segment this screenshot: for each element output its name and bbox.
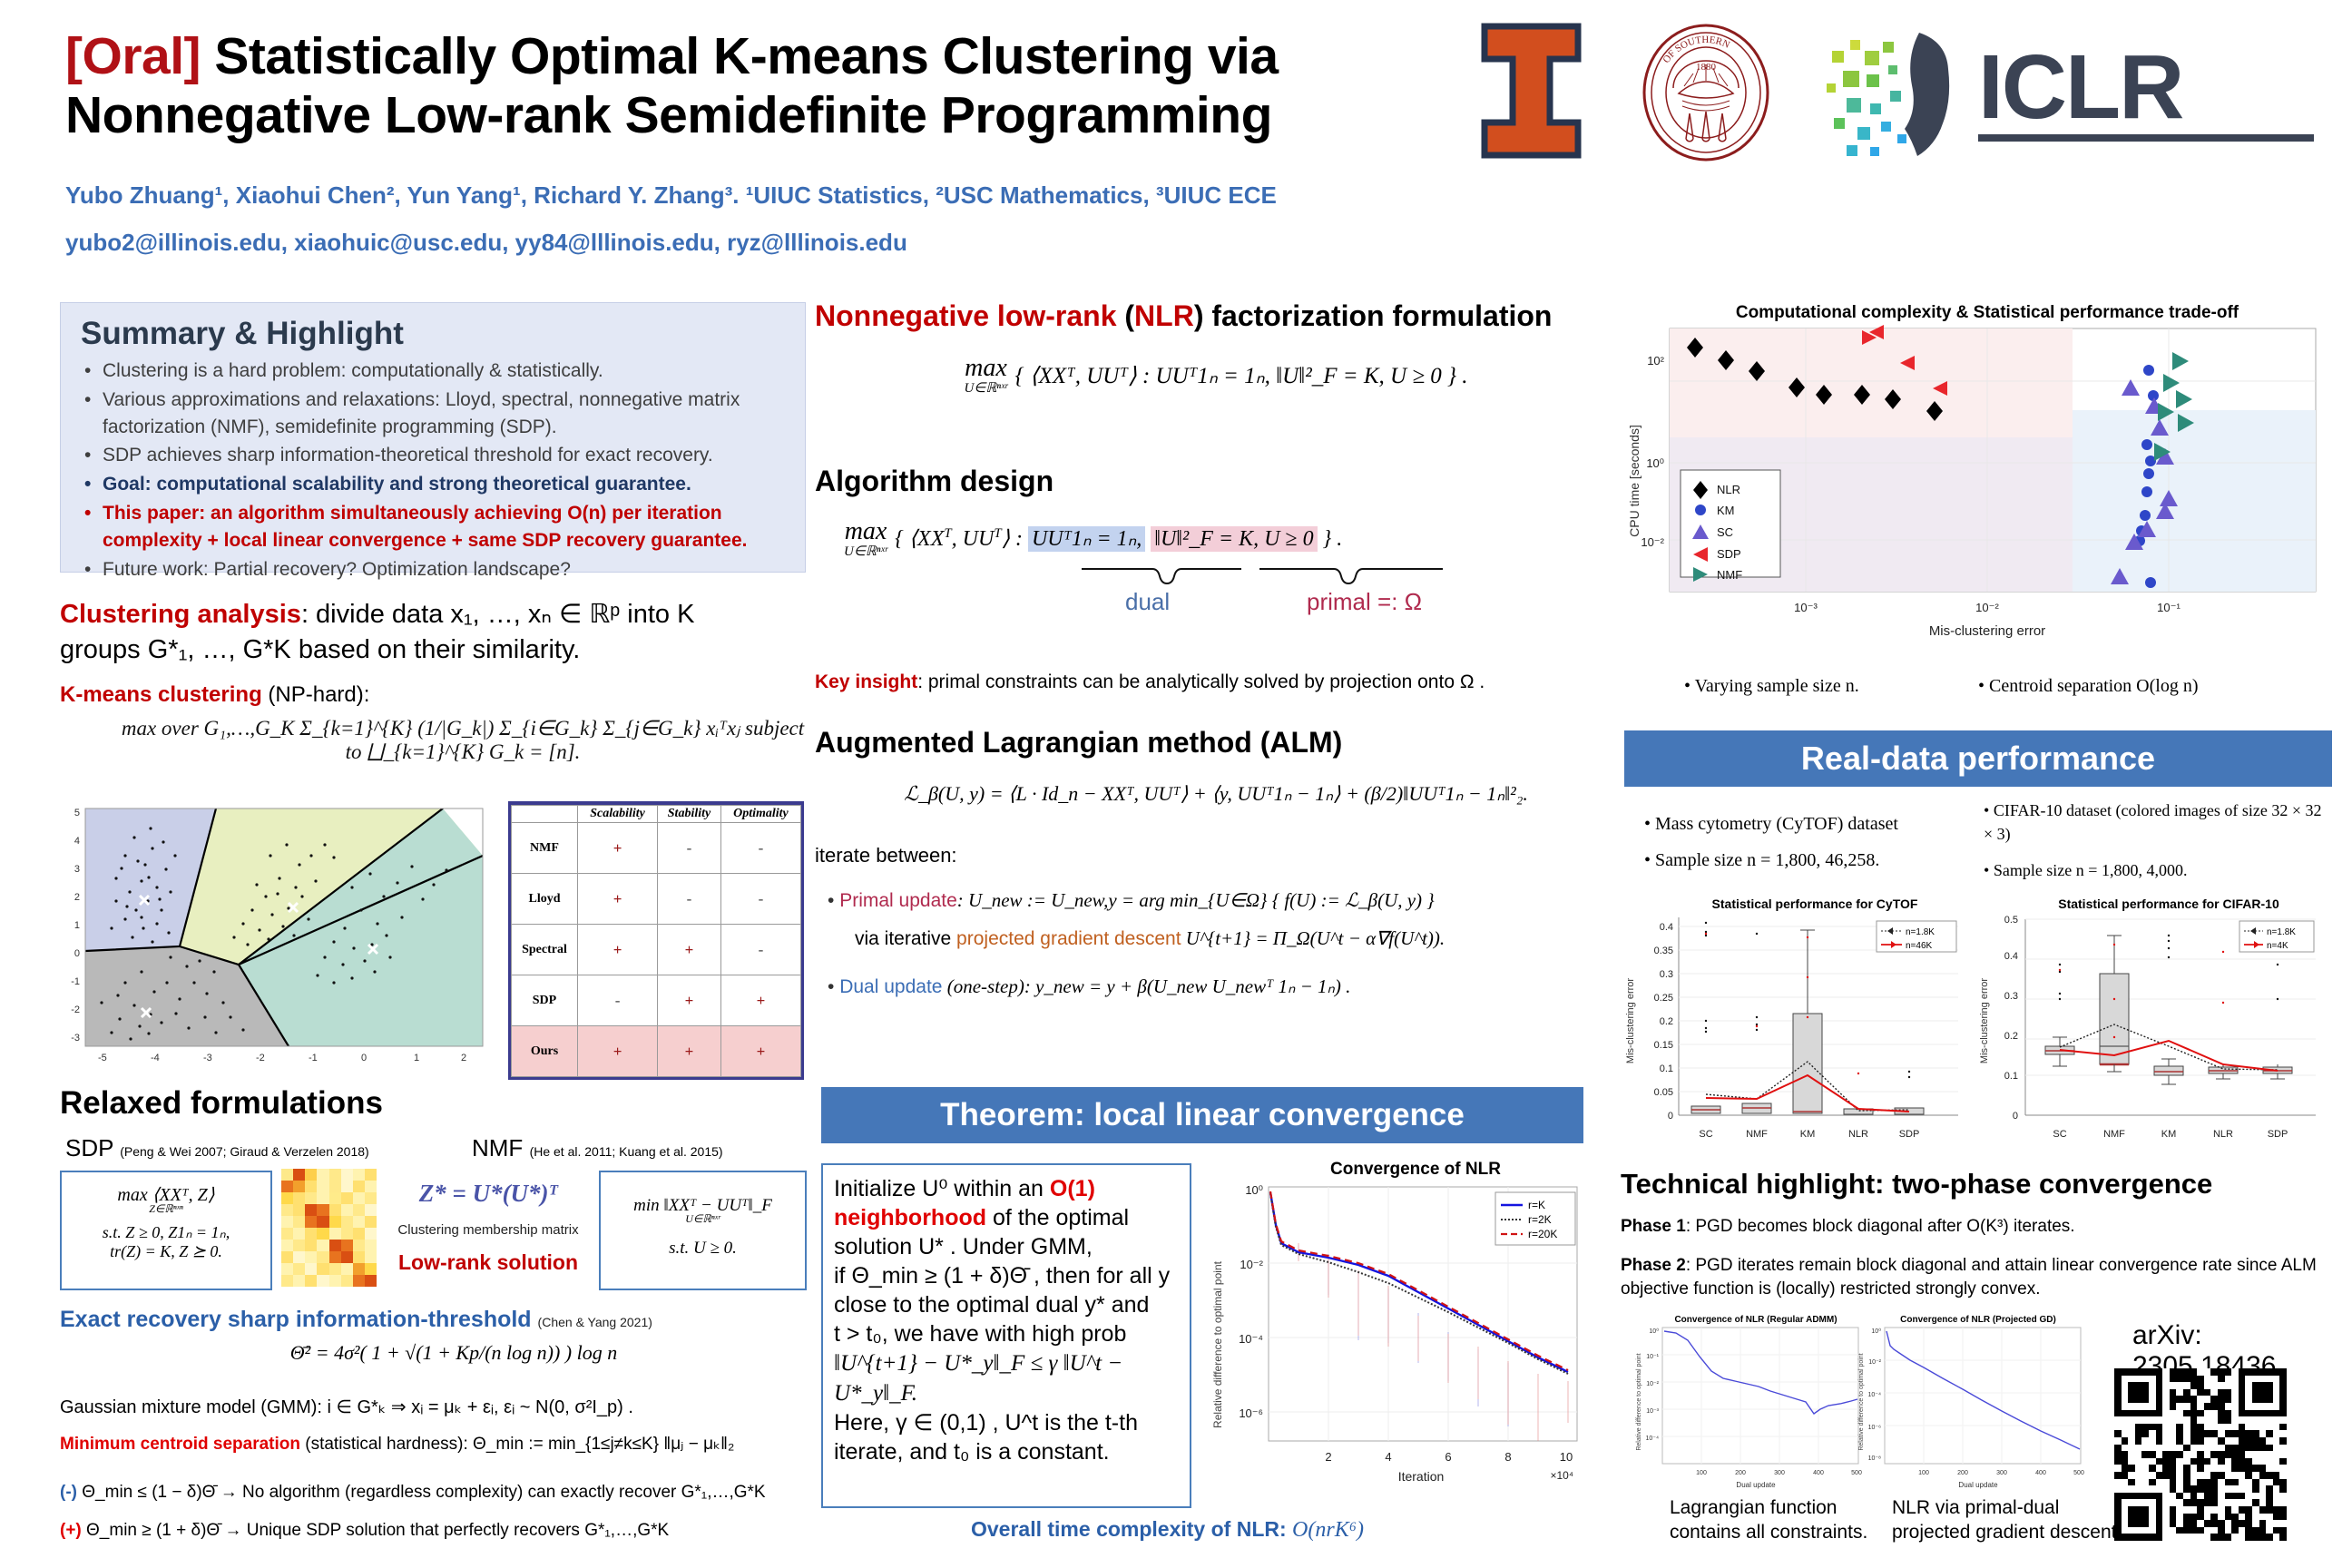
key-insight-label: Key insight (815, 671, 917, 692)
membership-heatmap (281, 1169, 377, 1287)
primal-constraint: ‖U‖²_F = K, U ≥ 0 (1151, 526, 1317, 552)
method-comparison-table: Scalability Stability Optimality NMF + -… (508, 801, 804, 1080)
theorem-line7: Here, γ ∈ (0,1) , U^t is the t-th (834, 1410, 1138, 1436)
x-tick: 10⁻¹ (2157, 601, 2180, 614)
x-tick: 100 (1696, 1470, 1707, 1476)
y-tick: 10⁻² (1868, 1359, 1881, 1366)
cell: + (578, 874, 658, 925)
y-tick: 0.05 (1654, 1087, 1673, 1098)
pgd-prefix: via iterative (855, 928, 956, 949)
theorem-line4: if Θ_min ≥ (1 + δ)Θ̄ , then for all y (834, 1263, 1170, 1289)
y-axis-label: Relative difference to optimal point (1858, 1353, 1865, 1450)
phase1-row: Phase 1: PGD becomes block diagonal afte… (1621, 1217, 2337, 1237)
theorem-line1a: Initialize U⁰ within an (834, 1176, 1050, 1201)
theta-bar-formula: Θ̄² = 4σ²( 1 + √(1 + Kp/(n log n)) ) log… (136, 1341, 771, 1365)
y-tick: 10⁻⁶ (1239, 1406, 1263, 1420)
theorem-neighborhood: neighborhood (834, 1205, 986, 1230)
x-axis-label: Mis-clustering error (1929, 623, 2045, 639)
x-tick: SC (2053, 1129, 2066, 1140)
exact-recovery-citation: (Chen & Yang 2021) (538, 1315, 652, 1329)
y-tick: 0.4 (1660, 922, 1673, 933)
col-header-blank (512, 806, 578, 823)
y-tick: 0 (2013, 1111, 2018, 1122)
x-tick: KM (1800, 1129, 1816, 1140)
y-tick: 10⁻¹ (1646, 1354, 1659, 1360)
convergence-of-nlr-chart: Convergence of NLR Relative difference t… (1207, 1154, 1588, 1508)
list-item: • Sample size n = 1,800, 46,258. (1644, 842, 1962, 878)
x-tick: 200 (1957, 1470, 1968, 1476)
cytof-boxplot-chart: Statistical performance for CyTOF Mis-cl… (1624, 894, 1978, 1152)
legend-nmf: NMF (1717, 568, 1742, 582)
y-tick: 0.1 (1660, 1063, 1673, 1074)
table-row: NMF + - - (512, 823, 801, 874)
list-item: Future work: Partial recovery? Optimizat… (103, 556, 783, 583)
x-tick: 100 (1918, 1470, 1929, 1476)
svg-text:1: 1 (74, 920, 80, 931)
list-item-goal: Goal: computational scalability and stro… (103, 471, 783, 498)
cell: + (578, 925, 658, 975)
x-tick: 500 (2073, 1470, 2084, 1476)
theorem-banner: Theorem: local linear convergence (821, 1087, 1583, 1143)
kmeans-label: K-means clustering (60, 682, 262, 707)
phase2-text: : PGD iterates remain block diagonal and… (1621, 1256, 2317, 1298)
tradeoff-chart: Computational complexity & Statistical p… (1624, 299, 2332, 662)
table-row-ours: Ours + + + (512, 1026, 801, 1077)
y-tick: 5 (74, 808, 80, 818)
theorem-line8: iterate, and t₀ is a constant. (834, 1439, 1110, 1465)
nlr-formula-row: max U∈ℝⁿˣʳ { ⟨XXᵀ, UUᵀ⟩ : UUᵀ1ₙ = 1ₙ, ‖U… (844, 354, 1588, 397)
legend-r20k: r=20K (1528, 1228, 1557, 1240)
cell: - (658, 874, 721, 925)
y-tick: 10⁻² (1646, 1381, 1659, 1387)
dual-constraint: UUᵀ1ₙ = 1ₙ, (1028, 526, 1145, 552)
iclr-wordmark: ICLR (1978, 44, 2314, 143)
y-axis-label: Relative difference to optimal point (1636, 1353, 1642, 1450)
svg-text:-3: -3 (71, 1033, 80, 1044)
svg-text:2: 2 (74, 892, 80, 903)
legend-r2k: r=2K (1528, 1213, 1552, 1226)
cell: + (578, 823, 658, 874)
clustering-analysis-block: Clustering analysis: divide data x₁, …, … (60, 597, 804, 668)
x-tick: SC (1699, 1129, 1712, 1140)
negative-result-row: (-) Θ_min ≤ (1 − δ)Θ̄ → No algorithm (re… (60, 1483, 877, 1503)
min-separation-label: Minimum centroid separation (60, 1435, 300, 1454)
y-axis-label: Mis-clustering error (1625, 978, 1636, 1063)
admm-caption: Lagrangian function contains all constra… (1670, 1495, 1906, 1545)
cell: + (720, 1026, 800, 1077)
table-row: SDP - + + (512, 975, 801, 1026)
svg-text:0: 0 (361, 1053, 367, 1063)
title-line-2: Nonnegative Low-rank Semidefinite Progra… (65, 86, 1272, 144)
y-tick: 0.1 (2004, 1071, 2018, 1082)
negative-result-text: Θ_min ≤ (1 − δ)Θ̄ → No algorithm (regard… (82, 1483, 765, 1502)
x-tick: NMF (2103, 1129, 2125, 1140)
cell: + (578, 1026, 658, 1077)
clustering-analysis-heading: Clustering analysis (60, 600, 301, 629)
y-tick: 0.2 (2004, 1031, 2018, 1042)
nlr-formula-body: { ⟨XXᵀ, UUᵀ⟩ : UUᵀ1ₙ = 1ₙ, ‖U‖²_F = K, U… (1015, 362, 1468, 389)
kmeans-heading-row: K-means clustering (NP-hard): (60, 682, 804, 708)
list-item: SDP achieves sharp information-theoretic… (103, 442, 783, 469)
admm-caption-line2: contains all constraints. (1670, 1520, 1906, 1544)
row-label: Spectral (512, 925, 578, 975)
cell: - (720, 874, 800, 925)
x-tick: SDP (2268, 1129, 2288, 1140)
list-item: • Mass cytometry (CyTOF) dataset (1644, 806, 1962, 842)
positive-result-text: Θ_min ≥ (1 + δ)Θ̄ → Unique SDP solution … (86, 1521, 669, 1540)
x-exponent: ×10⁴ (1550, 1469, 1573, 1482)
legend-nlr: NLR (1717, 483, 1740, 496)
cell: + (658, 925, 721, 975)
x-tick: 10⁻³ (1794, 601, 1818, 614)
chart-title: Computational complexity & Statistical p… (1736, 303, 2239, 322)
sdp-formula-line2: s.t. Z ≥ 0, Z1ₙ = 1ₙ, (62, 1223, 270, 1242)
y-axis-label: Relative difference to optimal point (1211, 1260, 1224, 1428)
exact-recovery-heading: Exact recovery sharp information-thresho… (60, 1307, 652, 1333)
sdp-formula-line3: tr(Z) = K, Z ⪰ 0. (62, 1242, 270, 1261)
nmf-formula-sub: U∈ℝⁿˣʳ (601, 1212, 805, 1226)
nlr-title-red2: NLR (1134, 299, 1194, 332)
y-tick: 10⁻³ (1646, 1408, 1659, 1415)
summary-title: Summary & Highlight (81, 316, 805, 352)
cell: - (720, 925, 800, 975)
svg-text:0: 0 (74, 948, 80, 959)
key-insight-text: : primal constraints can be analytically… (917, 671, 1485, 692)
complexity-label: Overall time complexity of NLR: (971, 1517, 1287, 1541)
row-label: Lloyd (512, 874, 578, 925)
x-tick: 400 (2035, 1470, 2046, 1476)
col-header-optimality: Optimality (720, 806, 800, 823)
theorem-o1: O(1) (1050, 1176, 1095, 1201)
y-tick: 10⁻⁸ (1868, 1455, 1881, 1462)
y-tick: 0.4 (2004, 951, 2018, 962)
nmf-citation: (He et al. 2011; Kuang et al. 2015) (530, 1144, 723, 1159)
y-tick: 10⁰ (1649, 1328, 1659, 1335)
regular-admm-chart: Convergence of NLR (Regular ADMM) Relati… (1633, 1311, 1869, 1493)
x-axis-label: Iteration (1398, 1469, 1445, 1484)
x-tick: NLR (1848, 1129, 1868, 1140)
cell: - (720, 823, 800, 874)
y-tick: 0.35 (1654, 946, 1673, 956)
legend-sdp: SDP (1717, 547, 1741, 561)
x-tick: 200 (1735, 1470, 1746, 1476)
x-tick: 400 (1813, 1470, 1824, 1476)
min-separation-row: Minimum centroid separation (statistical… (60, 1434, 858, 1455)
algorithm-design-title: Algorithm design (815, 465, 1053, 498)
qr-code[interactable] (2114, 1368, 2287, 1541)
pgd-row: via iterative projected gradient descent… (855, 927, 1608, 950)
alm-formula: ℒ_β(U, y) = ⟨L · Id_n − XXᵀ, UUᵀ⟩ + ⟨y, … (835, 782, 1597, 806)
svg-text:2: 2 (461, 1053, 466, 1063)
legend-n1_8k: n=1.8K (2267, 927, 2296, 937)
voronoi-scatter-chart: 54 32 10 -1-2-3 -5-4-3-2 -1012 (62, 801, 488, 1073)
theorem-line5: close to the optimal dual y* and (834, 1292, 1149, 1318)
tradeoff-caption-left: • Varying sample size n. (1684, 676, 1859, 697)
chart-title: Statistical performance for CIFAR-10 (2058, 897, 2279, 911)
y-tick: 0.25 (1654, 993, 1673, 1004)
nmf-formula-line2: s.t. U ≥ 0. (601, 1239, 805, 1259)
iclr-brain-logo (1810, 27, 1960, 162)
alm-title: Augmented Lagrangian method (ALM) (815, 726, 1342, 759)
list-item: • Sample size n = 1,800, 4,000. (1984, 858, 2328, 882)
boxes (1691, 930, 1924, 1114)
phase2-label: Phase 2 (1621, 1256, 1686, 1275)
membership-annotation: Z* = U*(U*)ᵀ Clustering membership matri… (388, 1180, 588, 1275)
summary-panel: Summary & Highlight Clustering is a hard… (60, 302, 806, 573)
primal-update-row: • Primal update: U_new := U_new,y = arg … (828, 889, 1608, 912)
membership-caption: Clustering membership matrix (388, 1222, 588, 1238)
sdp-citation: (Peng & Wei 2007; Giraud & Verzelen 2018… (120, 1144, 368, 1159)
svg-text:3: 3 (74, 864, 80, 875)
dual-update-row: • Dual update (one-step): y_new = y + β(… (828, 975, 1608, 998)
list-item: Clustering is a hard problem: computatio… (103, 358, 783, 385)
x-tick: NLR (2213, 1129, 2233, 1140)
theorem-line3: solution U* . Under GMM, (834, 1234, 1093, 1259)
y-axis-label: CPU time [seconds] (1627, 425, 1641, 537)
legend-sc: SC (1717, 525, 1733, 539)
svg-text:1: 1 (414, 1053, 419, 1063)
cell: - (658, 823, 721, 874)
clustering-analysis-text: : divide data x₁, …, xₙ ∈ ℝᵖ into K (301, 600, 695, 629)
y-tick: 10⁻² (1641, 535, 1664, 549)
cell: - (578, 975, 658, 1026)
technical-highlight-title: Technical highlight: two-phase convergen… (1621, 1168, 2212, 1200)
y-tick: 0.3 (2004, 991, 2018, 1002)
dual-update-formula: (one-step): y_new = y + β(U_new U_newᵀ 1… (942, 975, 1350, 997)
table-row: Lloyd + - - (512, 874, 801, 925)
chart-title: Convergence of NLR (Regular ADMM) (1674, 1315, 1837, 1325)
clustering-analysis-line2: groups G*₁, …, G*K based on their simila… (60, 635, 580, 664)
phase1-text: : PGD becomes block diagonal after O(K³)… (1686, 1217, 2075, 1236)
usc-logo: 1880 OF SOUTHERN (1633, 23, 1779, 163)
nlr-max-sub: U∈ℝⁿˣʳ (964, 379, 1007, 397)
x-tick: 300 (1996, 1470, 2007, 1476)
pgd-label: projected gradient descent (956, 928, 1181, 949)
nmf-formula-box: min ‖XXᵀ − UUᵀ‖_F U∈ℝⁿˣʳ s.t. U ≥ 0. (599, 1171, 807, 1290)
theorem-line6: t > t₀, we have with high prob (834, 1321, 1126, 1347)
x-tick: 10 (1560, 1450, 1573, 1464)
cell: + (720, 975, 800, 1026)
cell: + (658, 1026, 721, 1077)
nmf-label-row: NMF (He et al. 2011; Kuang et al. 2015) (472, 1134, 723, 1162)
svg-text:-2: -2 (256, 1053, 265, 1063)
y-tick: 10⁰ (1646, 456, 1664, 470)
svg-text:-4: -4 (151, 1053, 160, 1063)
svg-text:-1: -1 (71, 976, 80, 987)
chart-title: Convergence of NLR (Projected GD) (1900, 1315, 2056, 1325)
theorem-line2b: of the optimal (986, 1205, 1129, 1230)
svg-text:-5: -5 (98, 1053, 107, 1063)
svg-text:4: 4 (74, 836, 80, 847)
x-tick: 8 (1504, 1450, 1511, 1464)
title-line-1: Statistically Optimal K-means Clustering… (201, 27, 1279, 85)
col-header-stability: Stability (658, 806, 721, 823)
primal-update-formula: : U_new := U_new,y = arg min_{U∈Ω} { f(U… (957, 889, 1435, 911)
y-tick: 10⁰ (1245, 1183, 1263, 1197)
y-tick: 0.15 (1654, 1040, 1673, 1051)
col-header-scalability: Scalability (578, 806, 658, 823)
list-item: Various approximations and relaxations: … (103, 387, 783, 441)
author-list: Yubo Zhuang¹, Xiaohui Chen², Yun Yang¹, … (65, 181, 1463, 210)
y-tick: 10⁻² (1240, 1258, 1263, 1271)
complexity-row: Overall time complexity of NLR: O(nrK⁶) (971, 1517, 1364, 1543)
cell: + (658, 975, 721, 1026)
oral-tag: [Oral] (65, 27, 201, 85)
x-tick: 6 (1445, 1450, 1451, 1464)
algo-formula-row: max U∈ℝⁿˣʳ { ⟨XXT, UUT⟩ : UUᵀ1ₙ = 1ₙ, ‖U… (844, 517, 1588, 560)
svg-text:-2: -2 (71, 1004, 80, 1015)
svg-text:-1: -1 (309, 1053, 318, 1063)
relaxed-title-text: Relaxed formulations (60, 1085, 383, 1121)
y-tick: 10⁻⁴ (1239, 1332, 1263, 1346)
negative-sign: (-) (60, 1483, 77, 1502)
legend-n1_8k: n=1.8K (1906, 927, 1935, 937)
nlr-title-mid: ( (1117, 299, 1135, 332)
legend-n46k: n=46K (1906, 941, 1933, 951)
realdata-banner: Real-data performance (1624, 730, 2332, 787)
legend-n4k: n=4K (2267, 941, 2288, 951)
dual-label: dual (1125, 588, 1170, 616)
positive-sign: (+) (60, 1521, 82, 1540)
y-axis-label: Mis-clustering error (1979, 978, 1990, 1063)
y-tick: 0.2 (1660, 1016, 1673, 1027)
phase1-label: Phase 1 (1621, 1217, 1686, 1236)
phase2-row: Phase 2: PGD iterates remain block diago… (1621, 1254, 2337, 1300)
x-tick: KM (2161, 1129, 2177, 1140)
algo-max-sub: U∈ℝⁿˣʳ (844, 543, 887, 560)
y-tick: 10⁻⁴ (1646, 1436, 1660, 1442)
sdp-label: SDP (65, 1134, 113, 1161)
y-tick: 0.5 (2004, 915, 2018, 926)
sdp-formula-box: max ⟨XXᵀ, Z⟩ Z∈ℝⁿˣⁿ s.t. Z ≥ 0, Z1ₙ = 1ₙ… (60, 1171, 272, 1290)
x-tick: 10⁻² (1975, 601, 1999, 614)
zstar-formula: Z* = U*(U*)ᵀ (388, 1180, 588, 1208)
tradeoff-caption-right: • Centroid separation O(log n) (1978, 676, 2199, 697)
chart-title: Convergence of NLR (1330, 1160, 1501, 1179)
legend-rk: r=K (1528, 1199, 1545, 1211)
positive-result-row: (+) Θ_min ≥ (1 + δ)Θ̄ → Unique SDP solut… (60, 1521, 877, 1541)
y-tick: 10⁻⁴ (1868, 1392, 1882, 1398)
x-tick: NMF (1746, 1129, 1768, 1140)
primal-label: primal =: Ω (1307, 588, 1422, 616)
sdp-label-row: SDP (Peng & Wei 2007; Giraud & Verzelen … (65, 1134, 369, 1162)
realdata-left-bullets: • Mass cytometry (CyTOF) dataset • Sampl… (1644, 806, 1962, 878)
list-item-contribution: This paper: an algorithm simultaneously … (103, 500, 783, 554)
list-item: • CIFAR-10 dataset (colored images of si… (1984, 799, 2328, 846)
min-separation-text: (statistical hardness): Θ_min := min_{1≤… (300, 1435, 734, 1454)
email-list: yubo2@illinois.edu, xiaohuic@usc.edu, yy… (65, 229, 1463, 257)
dual-update-label: Dual update (839, 976, 942, 997)
exact-recovery-title: Exact recovery sharp information-thresho… (60, 1307, 532, 1332)
cifar10-boxplot-chart: Statistical performance for CIFAR-10 Mis… (1978, 894, 2332, 1152)
page-title: [Oral] Statistically Optimal K-means Clu… (65, 27, 1463, 145)
chart-title: Statistical performance for CyTOF (1712, 897, 1918, 911)
row-label: SDP (512, 975, 578, 1026)
legend-km: KM (1717, 504, 1735, 517)
table-row: Spectral + + - (512, 925, 801, 975)
x-tick: SDP (1899, 1129, 1920, 1140)
y-tick: 10² (1647, 354, 1664, 367)
key-insight-row: Key insight: primal constraints can be a… (815, 671, 1604, 693)
nmf-label: NMF (472, 1134, 523, 1161)
relaxed-formulations-title: Relaxed formulations (60, 1085, 383, 1122)
theorem-box: Initialize U⁰ within an O(1) neighborhoo… (821, 1163, 1191, 1508)
gmm-definition: Gaussian mixture model (GMM): i ∈ G*ₖ ⇒ … (60, 1396, 813, 1418)
y-tick: 10⁰ (1871, 1328, 1881, 1335)
nlr-title-rest: ) factorization formulation (1194, 299, 1553, 332)
kmeans-formula: max over G₁,…,G_K Σ_{k=1}^{K} (1/|G_k|) … (118, 717, 808, 764)
projected-gd-chart: Convergence of NLR (Projected GD) Relati… (1856, 1311, 2092, 1493)
nlr-title-red: Nonnegative low-rank (815, 299, 1117, 332)
pgd-formula: U^{t+1} = Π_Ω(U^t − α∇f(U^t)). (1181, 927, 1445, 949)
summary-bullet-list: Clustering is a hard problem: computatio… (61, 358, 805, 583)
sdp-formula-sub: Z∈ℝⁿˣⁿ (62, 1202, 270, 1216)
y-tick: 10⁻⁶ (1868, 1425, 1881, 1431)
row-label: NMF (512, 823, 578, 874)
y-tick: 0.3 (1660, 969, 1673, 980)
x-tick: 4 (1385, 1450, 1391, 1464)
realdata-right-bullets: • CIFAR-10 dataset (colored images of si… (1984, 799, 2328, 882)
y-tick: 0 (1668, 1111, 1673, 1122)
admm-caption-line1: Lagrangian function (1670, 1495, 1906, 1520)
svg-text:-3: -3 (203, 1053, 212, 1063)
x-axis-label: Dual update (1736, 1481, 1776, 1489)
theorem-formula: ‖U^{t+1} − U*_y‖_F ≤ γ ‖U^t − U*_y‖_F. (834, 1351, 1122, 1406)
complexity-value: O(nrK⁶) (1292, 1518, 1364, 1542)
primal-update-label: Primal update (839, 890, 957, 911)
x-tick: 300 (1774, 1470, 1785, 1476)
row-label: Ours (512, 1026, 578, 1077)
usc-year: 1880 (1696, 62, 1717, 73)
kmeans-nphard: (NP-hard): (262, 682, 370, 707)
illinois-logo (1479, 23, 1583, 159)
x-tick: 2 (1325, 1450, 1331, 1464)
iclr-text: ICLR (1978, 44, 2314, 131)
nlr-section-title: Nonnegative low-rank (NLR) factorization… (815, 299, 1604, 333)
iterate-between-label: iterate between: (815, 844, 957, 867)
lowrank-caption: Low-rank solution (388, 1250, 588, 1275)
x-axis-label: Dual update (1958, 1481, 1998, 1489)
